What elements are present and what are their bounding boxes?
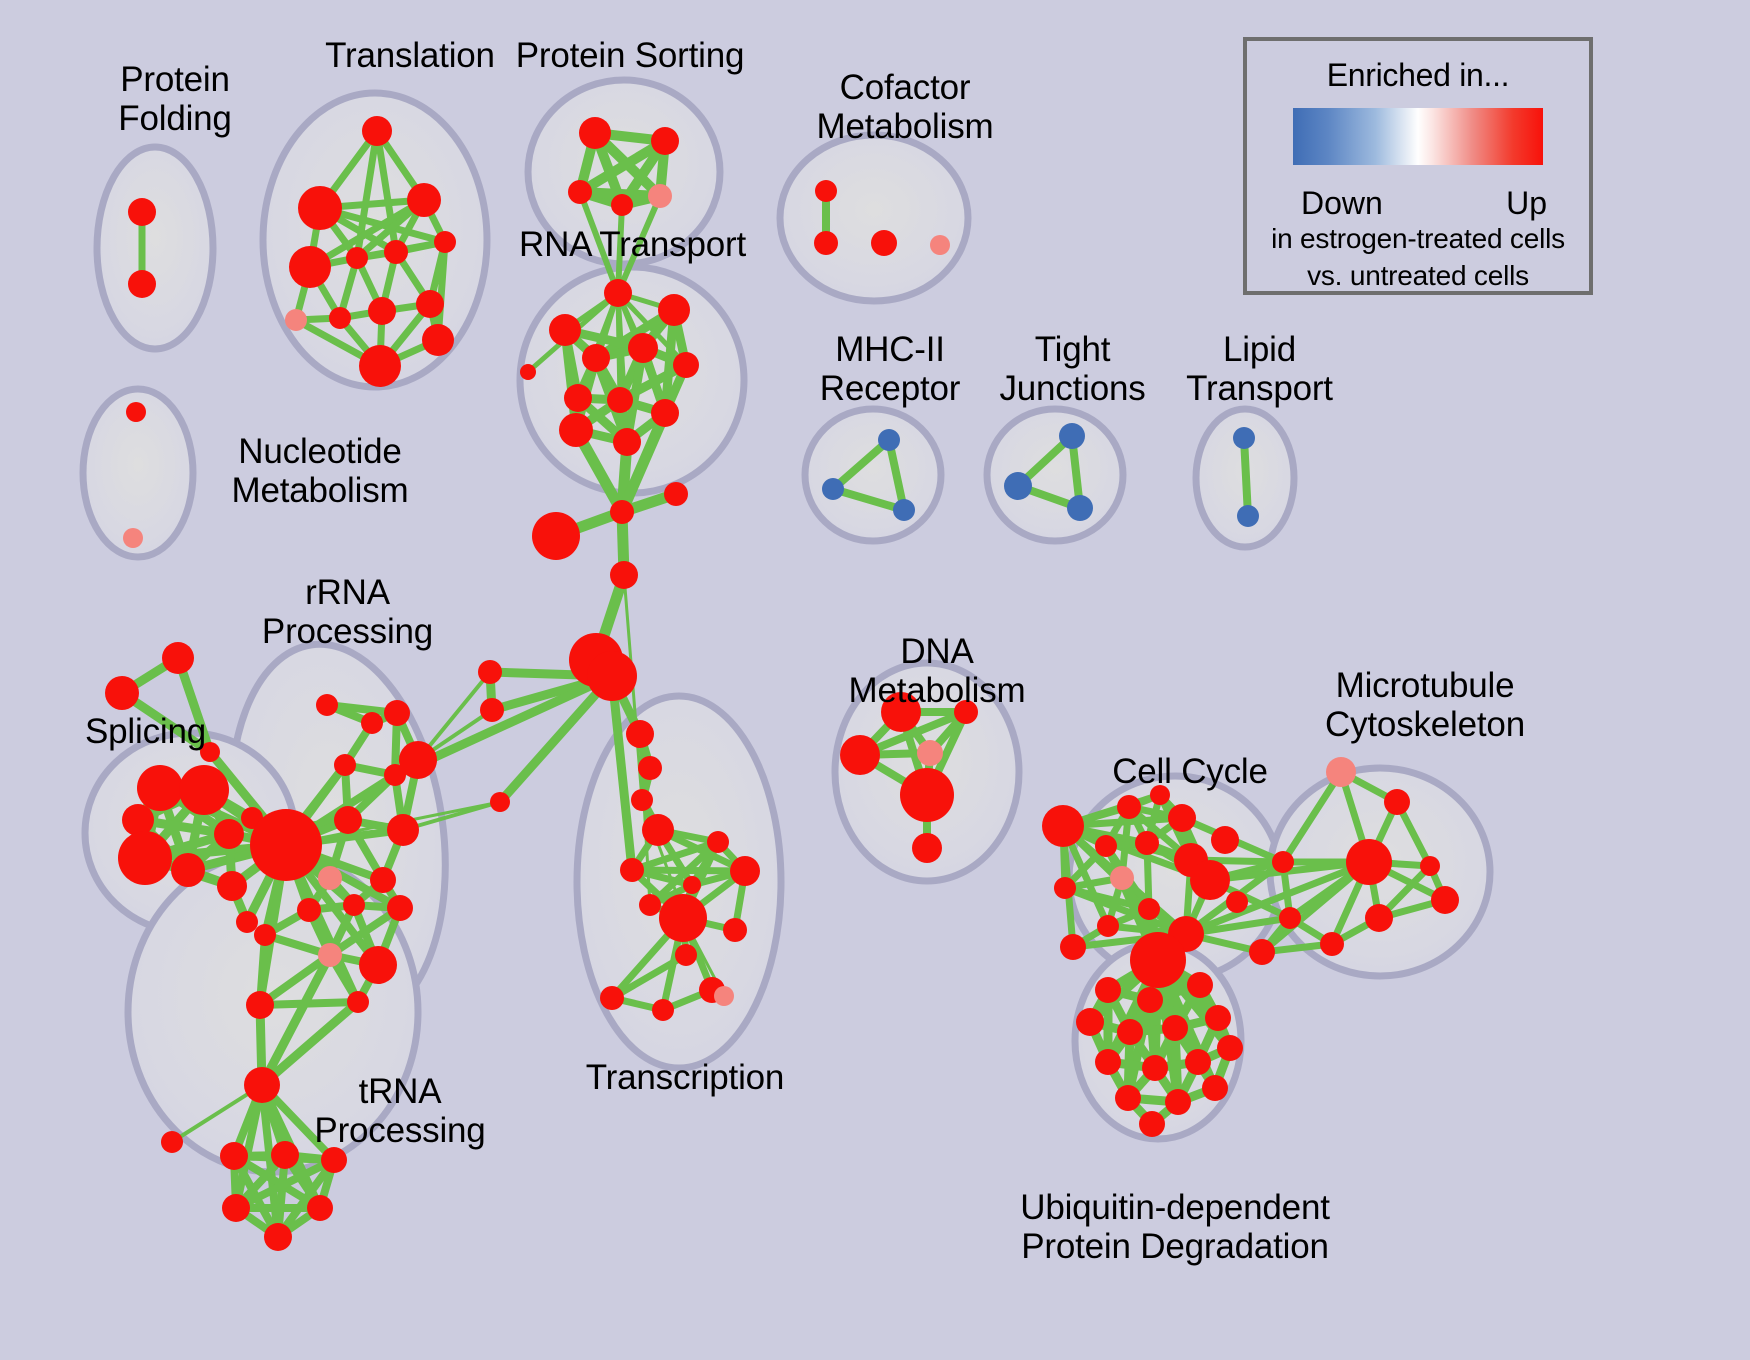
node <box>105 676 139 710</box>
node <box>659 894 707 942</box>
enrichment-map-figure: Protein Folding Translation Protein Sort… <box>0 0 1750 1360</box>
legend-up-label: Up <box>1506 185 1547 222</box>
node <box>1054 877 1076 899</box>
node <box>639 894 661 916</box>
node <box>1272 851 1294 873</box>
node <box>1326 757 1356 787</box>
cluster-label-ubiquitin-protein-degradation: Ubiquitin-dependent Protein Degradation <box>990 1188 1360 1266</box>
node <box>1346 839 1392 885</box>
node <box>814 231 838 255</box>
node <box>1279 907 1301 929</box>
node <box>568 180 592 204</box>
node <box>347 991 369 1013</box>
node <box>362 116 392 146</box>
node <box>271 1141 299 1169</box>
node <box>638 756 662 780</box>
node <box>162 642 194 674</box>
node <box>264 1223 292 1251</box>
node <box>707 831 729 853</box>
node <box>422 324 454 356</box>
node <box>1067 495 1093 521</box>
cluster-label-translation: Translation <box>290 36 530 75</box>
node <box>1137 987 1163 1013</box>
node <box>815 180 837 202</box>
hull-tight-junctions <box>987 409 1123 541</box>
node <box>387 895 413 921</box>
node <box>1095 1049 1121 1075</box>
node <box>1117 1019 1143 1045</box>
node <box>917 740 943 766</box>
node <box>600 986 624 1010</box>
node <box>559 413 593 447</box>
cluster-label-splicing: Splicing <box>58 712 233 751</box>
node <box>123 528 143 548</box>
node <box>220 1142 248 1170</box>
node <box>840 735 880 775</box>
node <box>480 698 504 722</box>
node <box>651 127 679 155</box>
node <box>346 247 368 269</box>
node <box>673 352 699 378</box>
node <box>1190 860 1230 900</box>
node <box>416 290 444 318</box>
node <box>878 429 900 451</box>
node <box>549 314 581 346</box>
node <box>579 117 611 149</box>
node <box>128 270 156 298</box>
node <box>1135 831 1159 855</box>
node <box>900 768 954 822</box>
cluster-label-cofactor-metabolism: Cofactor Metabolism <box>790 68 1020 146</box>
node <box>236 911 258 933</box>
node <box>1117 795 1141 819</box>
node <box>1233 427 1255 449</box>
node <box>318 943 342 967</box>
node <box>307 1195 333 1221</box>
cluster-label-transcription: Transcription <box>570 1058 800 1097</box>
node <box>642 814 674 846</box>
node <box>1320 932 1344 956</box>
legend-subtitle-line-1: in estrogen-treated cells <box>1247 223 1589 255</box>
node <box>1226 891 1248 913</box>
node <box>289 246 331 288</box>
node <box>1095 835 1117 857</box>
node <box>651 399 679 427</box>
node <box>1431 886 1459 914</box>
node <box>343 894 365 916</box>
node <box>254 924 276 946</box>
node <box>318 866 342 890</box>
node <box>316 694 338 716</box>
node <box>626 720 654 748</box>
node <box>1420 856 1440 876</box>
legend-panel: Enriched in... Down Up in estrogen-treat… <box>1243 37 1593 295</box>
node <box>246 991 274 1019</box>
node <box>714 986 734 1006</box>
node <box>361 712 383 734</box>
node <box>478 660 502 684</box>
node <box>250 809 322 881</box>
node <box>610 500 634 524</box>
cluster-label-protein-sorting: Protein Sorting <box>505 36 755 75</box>
legend-down-label: Down <box>1301 185 1383 222</box>
node <box>126 402 146 422</box>
node <box>1130 932 1186 988</box>
legend-subtitle-line-2: vs. untreated cells <box>1247 260 1589 292</box>
cluster-label-lipid-transport: Lipid Transport <box>1172 330 1347 408</box>
node <box>893 499 915 521</box>
node <box>1205 1005 1231 1031</box>
node <box>321 1147 347 1173</box>
node <box>1139 1111 1165 1137</box>
legend-color-gradient-bar <box>1293 108 1543 165</box>
node <box>564 384 592 412</box>
node <box>648 184 672 208</box>
node <box>334 806 362 834</box>
node <box>118 831 172 885</box>
node <box>1211 826 1239 854</box>
cluster-label-cell-cycle: Cell Cycle <box>1095 752 1285 791</box>
cluster-label-mhc-ii-receptor: MHC-II Receptor <box>800 330 980 408</box>
node <box>171 853 205 887</box>
node <box>1365 904 1393 932</box>
node <box>285 309 307 331</box>
node <box>604 279 632 307</box>
node <box>587 651 637 701</box>
node <box>490 792 510 812</box>
cluster-label-dna-metabolism: DNA Metabolism <box>812 632 1062 710</box>
node <box>334 754 356 776</box>
cluster-label-microtubule-cytoskeleton: Microtubule Cytoskeleton <box>1300 666 1550 744</box>
node <box>871 230 897 256</box>
cluster-label-protein-folding: Protein Folding <box>80 60 270 138</box>
node <box>652 999 674 1021</box>
node <box>582 344 610 372</box>
node <box>658 294 690 326</box>
node <box>1042 805 1084 847</box>
node <box>822 478 844 500</box>
node <box>930 235 950 255</box>
node <box>1115 1085 1141 1111</box>
node <box>359 946 397 984</box>
hull-mhc <box>805 409 941 541</box>
node <box>1076 1008 1104 1036</box>
node <box>179 765 229 815</box>
node <box>407 183 441 217</box>
node <box>610 561 638 589</box>
node <box>613 428 641 456</box>
node <box>1004 472 1032 500</box>
hull-cofactor <box>780 135 968 301</box>
node <box>1110 866 1134 890</box>
node <box>298 186 342 230</box>
node <box>1059 423 1085 449</box>
node <box>1185 1049 1211 1075</box>
node <box>244 1067 280 1103</box>
node <box>217 871 247 901</box>
node <box>434 231 456 253</box>
node <box>1097 915 1119 937</box>
node <box>214 819 244 849</box>
node <box>1237 505 1259 527</box>
node <box>1138 898 1160 920</box>
node <box>1168 804 1196 832</box>
node <box>384 700 410 726</box>
node <box>1187 972 1213 998</box>
node <box>128 198 156 226</box>
cluster-label-rna-transport: RNA Transport <box>510 225 755 264</box>
node <box>370 867 396 893</box>
cluster-label-rrna-processing: rRNA Processing <box>250 573 445 651</box>
node <box>359 345 401 387</box>
cluster-label-nucleotide-metabolism: Nucleotide Metabolism <box>195 432 445 510</box>
node <box>730 856 760 886</box>
node <box>1384 789 1410 815</box>
node <box>611 194 633 216</box>
node <box>329 307 351 329</box>
node <box>664 482 688 506</box>
node <box>532 512 580 560</box>
node <box>161 1131 183 1153</box>
node <box>683 876 701 894</box>
hull-protein-folding <box>97 147 213 349</box>
node <box>1249 939 1275 965</box>
node <box>1095 977 1121 1003</box>
node <box>137 765 183 811</box>
node <box>1202 1075 1228 1101</box>
node <box>628 333 658 363</box>
cluster-label-trna-processing: tRNA Processing <box>305 1072 495 1150</box>
node <box>1217 1035 1243 1061</box>
node <box>222 1194 250 1222</box>
node <box>520 364 536 380</box>
node <box>675 944 697 966</box>
node <box>399 741 437 779</box>
node <box>384 240 408 264</box>
node <box>297 898 321 922</box>
node <box>122 804 154 836</box>
node <box>1142 1055 1168 1081</box>
node <box>620 858 644 882</box>
legend-title: Enriched in... <box>1247 57 1589 94</box>
node <box>723 918 747 942</box>
node <box>631 789 653 811</box>
node <box>912 833 942 863</box>
node <box>607 387 633 413</box>
node <box>1060 934 1086 960</box>
cluster-label-tight-junctions: Tight Junctions <box>985 330 1160 408</box>
node <box>368 297 396 325</box>
node <box>387 814 419 846</box>
node <box>1162 1015 1188 1041</box>
node <box>1165 1089 1191 1115</box>
